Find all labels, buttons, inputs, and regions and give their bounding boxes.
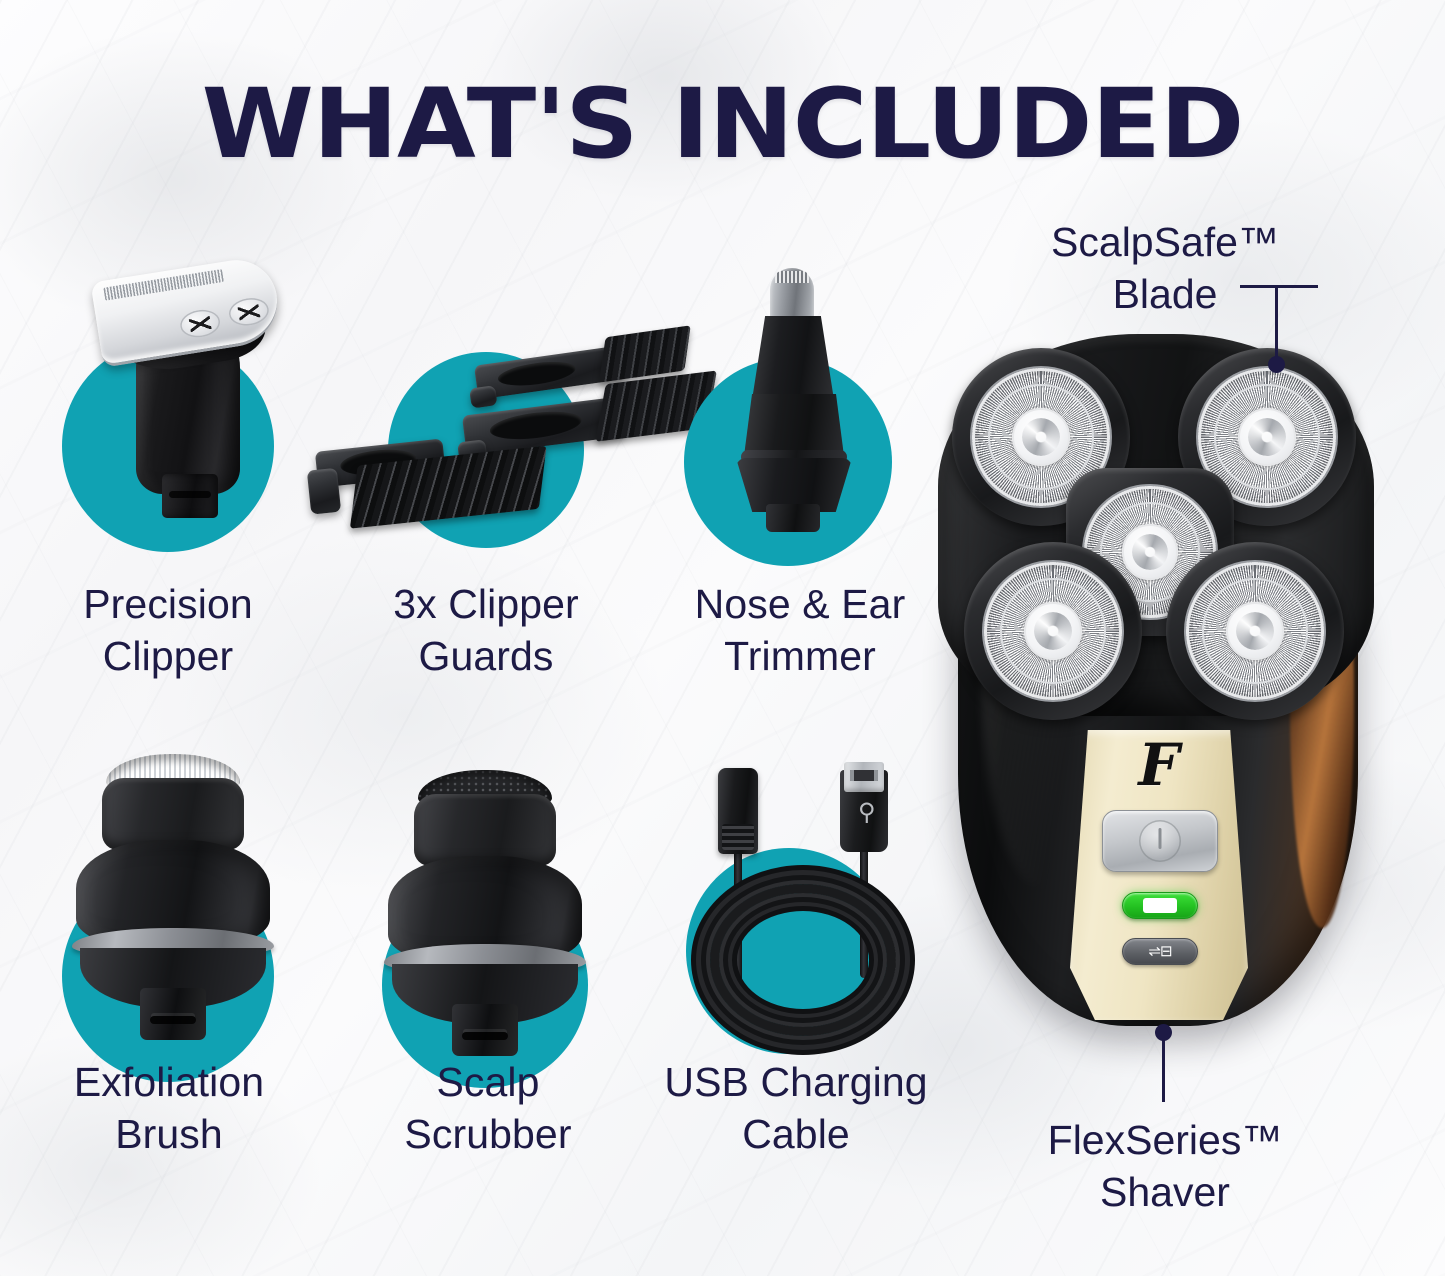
item-label-usb-charging-cable: USB Charging Cable: [630, 1056, 962, 1161]
flexseries-shaver-product: F ⇌⊟: [930, 300, 1390, 1040]
shaver-head-bottom-left: [964, 542, 1142, 720]
shaver-head-bottom-right: [1166, 542, 1344, 720]
exfoliation-brush-icon: [58, 752, 288, 1042]
leader-line-vertical: [1275, 285, 1278, 363]
callout-label-scalpsafe-blade: ScalpSafe™ Blade: [1000, 216, 1330, 321]
brand-logo: F: [1070, 736, 1248, 794]
leader-line-horizontal: [1240, 285, 1318, 288]
shaver-control-panel: F ⇌⊟: [1070, 730, 1248, 1020]
item-label-precision-clipper: Precision Clipper: [16, 578, 320, 683]
item-label-scalp-scrubber: Scalp Scrubber: [336, 1056, 640, 1161]
leader-dot: [1268, 356, 1285, 373]
scalp-scrubber-icon: [370, 768, 600, 1058]
battery-indicator: [1122, 892, 1198, 919]
usb-cable-icon: ⚲: [686, 756, 916, 1046]
item-label-clipper-guards: 3x Clipper Guards: [334, 578, 638, 683]
item-label-nose-ear-trimmer: Nose & Ear Trimmer: [638, 578, 962, 683]
clipper-guards-icon: [312, 348, 712, 538]
nose-ear-trimmer-icon: [714, 268, 884, 528]
callout-label-flexseries-shaver: FlexSeries™ Shaver: [1000, 1114, 1330, 1219]
usb-symbol-icon: ⚲: [858, 800, 871, 826]
infographic-canvas: WHAT'S INCLUDED Precision Clipper: [0, 0, 1445, 1276]
power-button[interactable]: [1102, 810, 1218, 872]
precision-clipper-icon: [78, 262, 298, 522]
page-title: WHAT'S INCLUDED: [0, 76, 1445, 172]
item-label-exfoliation-brush: Exfoliation Brush: [14, 1056, 324, 1161]
usb-charge-icon: ⇌⊟: [1141, 943, 1179, 960]
leader-line-vertical: [1162, 1034, 1165, 1102]
battery-icon: [1143, 898, 1177, 913]
power-icon: [1139, 820, 1181, 862]
charging-indicator: ⇌⊟: [1122, 938, 1198, 965]
